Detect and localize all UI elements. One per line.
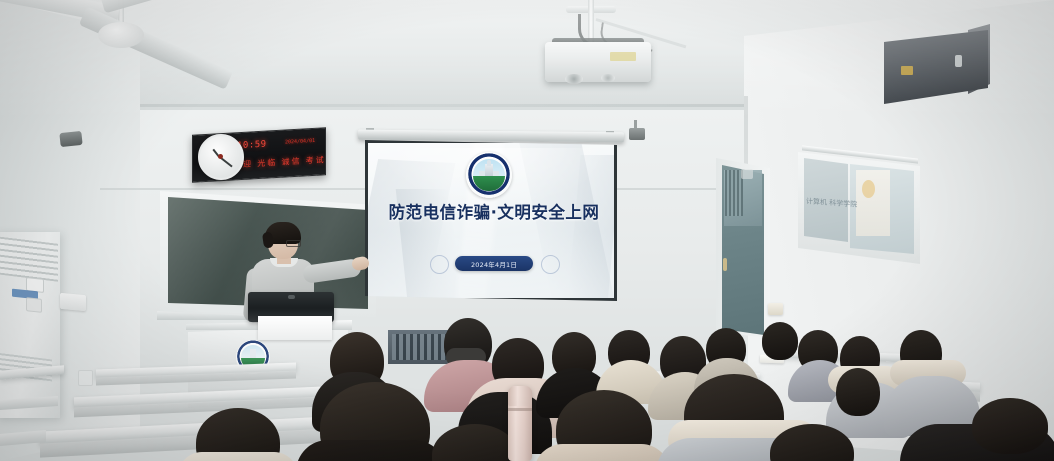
- thermos-cap: [508, 386, 532, 406]
- camera-icon: [629, 128, 645, 140]
- led-date-small: 2024/04/01: [285, 138, 315, 146]
- clock-center: [218, 154, 223, 159]
- projector-lens: [565, 74, 583, 84]
- ac-top-grille: [0, 236, 58, 282]
- monitor-camera-icon: [288, 295, 295, 299]
- fan-blade: [79, 6, 233, 89]
- emblem-ring: [466, 152, 512, 198]
- slide-date: 2024年4月1日: [455, 259, 533, 269]
- fan-hub: [98, 22, 144, 48]
- classroom-photo: 10:59 2024/04/01 欢迎 光临 诚信 考试 防范电信诈骗·: [0, 0, 1054, 461]
- led-scroll-text: 欢迎 光临 诚信 考试: [233, 154, 326, 170]
- projector-label-sticker: [610, 52, 636, 61]
- light-switch[interactable]: [60, 293, 86, 311]
- corridor-poster: [856, 170, 890, 236]
- fan-icon: [0, 0, 240, 104]
- wall-socket[interactable]: [78, 370, 93, 386]
- student-coat-foreground: [534, 444, 670, 461]
- corridor-poster-figure: [862, 180, 875, 198]
- slide-decor-ring: [541, 255, 560, 274]
- student-head-foreground: [972, 398, 1048, 454]
- camera-icon: [59, 131, 82, 147]
- clock-minute-hand: [220, 157, 232, 167]
- clock-icon: [198, 134, 244, 180]
- speaker-port: [955, 55, 962, 67]
- door-handle[interactable]: [723, 258, 727, 271]
- presenter-glasses: [286, 240, 301, 247]
- ac-display: [26, 297, 42, 313]
- wall-plate: [741, 169, 753, 179]
- student-coat-foreground: [296, 440, 446, 461]
- student-coat-foreground: [178, 452, 298, 461]
- student-head: [762, 322, 798, 360]
- speaker-badge: [901, 66, 913, 75]
- projector-icon: [545, 42, 651, 82]
- power-outlet[interactable]: [768, 303, 783, 315]
- slide-title: 防范电信诈骗·文明安全上网: [368, 199, 617, 223]
- thermos-ring: [508, 408, 532, 411]
- projector-sensor: [601, 74, 615, 82]
- student-head: [836, 368, 880, 416]
- projection-screen: 防范电信诈骗·文明安全上网 2024年4月1日: [365, 140, 617, 301]
- slide-decor-ring: [430, 255, 449, 274]
- paper-sheet: [258, 316, 332, 340]
- university-emblem-icon: [466, 152, 512, 198]
- slide-date-pill: 2024年4月1日: [455, 256, 533, 271]
